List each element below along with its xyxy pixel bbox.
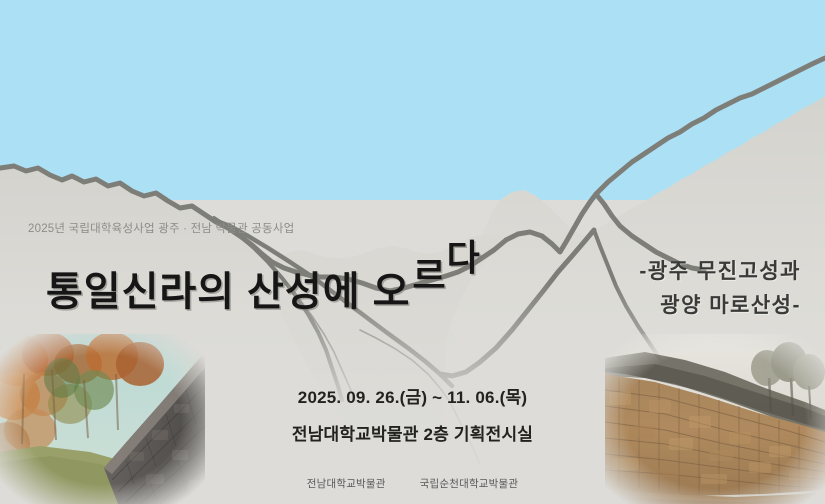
- organizer-1: 전남대학교박물관: [307, 476, 386, 491]
- main-title-base: 통일신라의 산성에 오: [46, 272, 410, 314]
- autumn-stone-fortress-wall-photo: [0, 334, 205, 504]
- main-title-stair-char-2: 다: [447, 240, 480, 314]
- subtitle-block: -광주 무진고성과 광양 마로산성-: [639, 255, 801, 323]
- main-title: 통일신라의 산성에 오 르 다: [46, 240, 480, 314]
- program-kicker-text: 2025년 국립대학육성사업 광주 · 전남 박물관 공동사업: [28, 220, 294, 236]
- main-title-stair-char-1: 르: [412, 258, 445, 314]
- tan-stone-fortress-wall-photo: [605, 334, 825, 504]
- organizer-2: 국립순천대학교박물관: [420, 476, 519, 491]
- exhibition-poster: 2025년 국립대학육성사업 광주 · 전남 박물관 공동사업 통일신라의 산성…: [0, 0, 825, 504]
- subtitle-line-2: 광양 마로산성-: [639, 289, 801, 323]
- subtitle-line-1: -광주 무진고성과: [639, 255, 801, 289]
